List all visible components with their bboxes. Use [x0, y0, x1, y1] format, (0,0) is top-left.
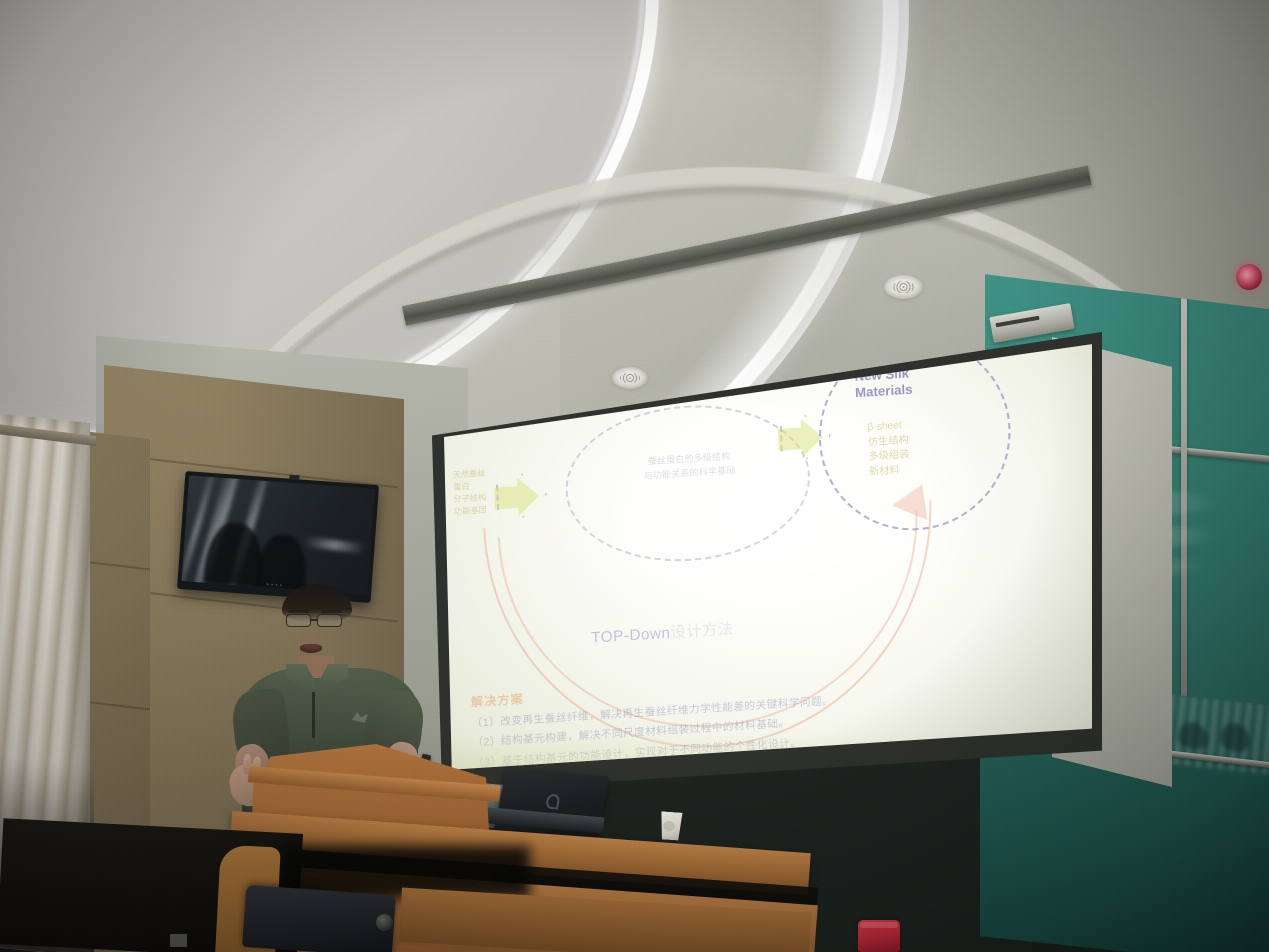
recessed-ceiling-light-icon [612, 367, 648, 389]
seat-number-label [170, 934, 187, 947]
presenter-nose [306, 630, 317, 642]
glasses-lens [317, 614, 342, 627]
seat-backrest [242, 885, 396, 952]
photo-scene: 科学问题 蚕丝蛋白的多级结构 与功能关系的科学基础 天然蚕丝 蛋白 分子结构 功… [0, 0, 1269, 952]
glasses-lens [286, 614, 311, 627]
presenter-shirt-placket [312, 692, 315, 738]
recessed-ceiling-light-icon [884, 275, 923, 299]
paper-cup [658, 811, 684, 841]
wall-mounted-tv: ● ● ● ● [177, 471, 379, 603]
corner-sensor-icon [1236, 264, 1262, 290]
glass-highlight-spot [1007, 459, 1033, 482]
wall-panel-right [1052, 337, 1172, 787]
presenter-mouth [300, 644, 322, 653]
seat-pivot-knob-icon [376, 914, 393, 931]
red-object [858, 920, 900, 952]
tv-screen: ● ● ● ● [182, 475, 375, 594]
presenter-eyebrow [288, 610, 309, 613]
glasses-icon [286, 614, 348, 627]
laptop-logo-icon [545, 794, 561, 810]
presenter-eyebrow [321, 610, 342, 613]
tv-camera-icon [289, 475, 299, 481]
tv-glare [304, 536, 365, 553]
